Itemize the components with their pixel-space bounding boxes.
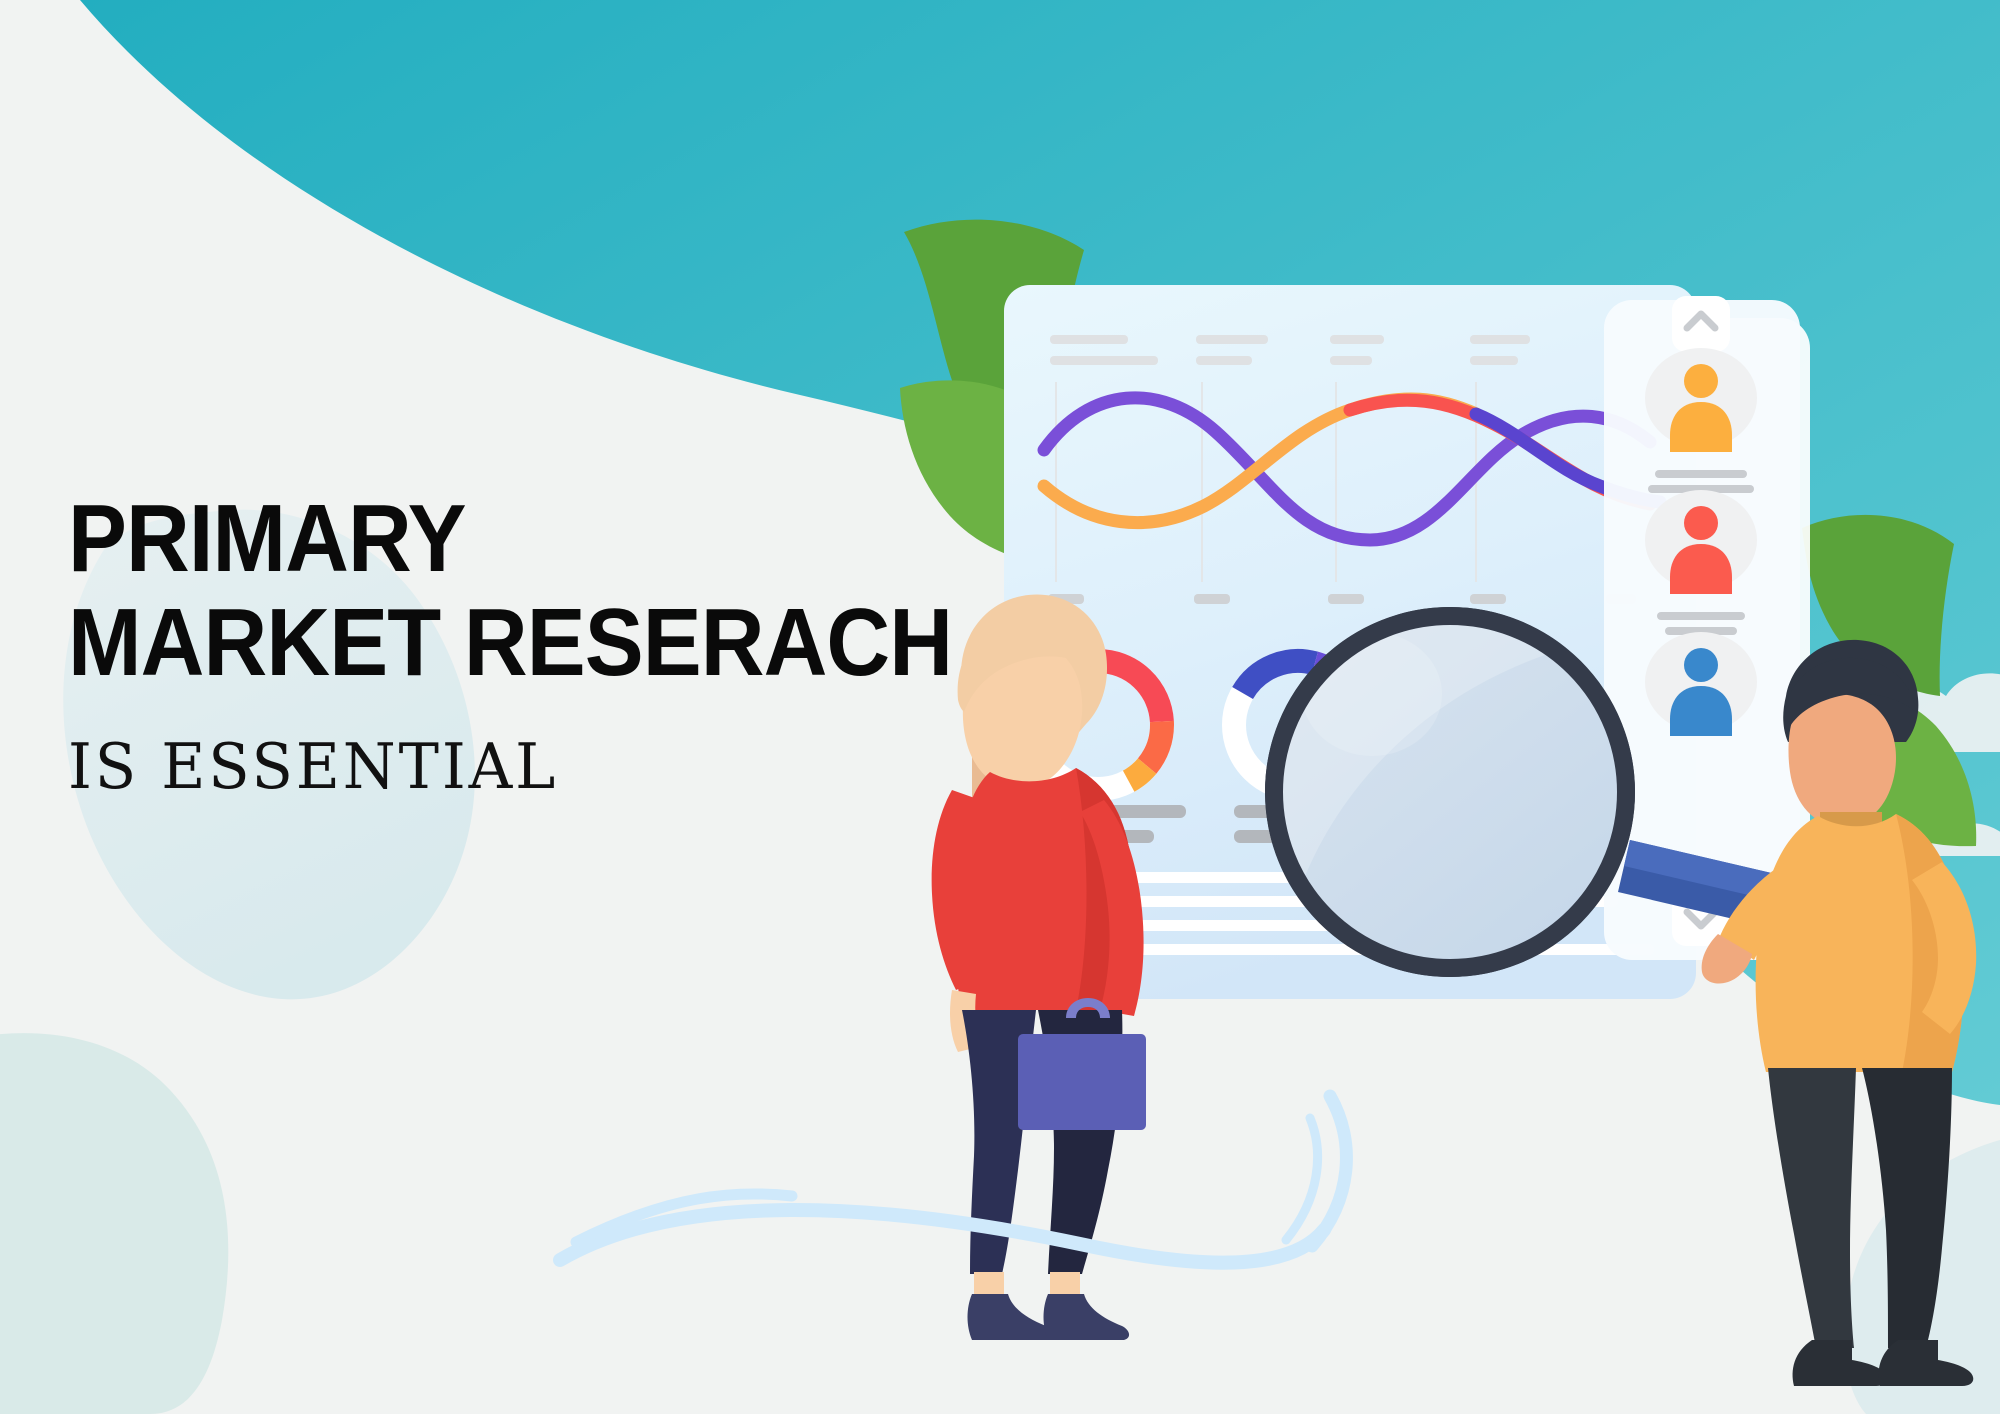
poster-text-block: PRIMARY MARKET RESERACH IS ESSENTIAL <box>68 487 1068 803</box>
shoe-left <box>1793 1340 1888 1386</box>
contact-entry-2[interactable] <box>1645 490 1757 635</box>
shoe-right <box>1044 1294 1130 1340</box>
briefcase <box>1018 1034 1146 1130</box>
page-subtitle: IS ESSENTIAL <box>68 730 1028 803</box>
contact-name-bar <box>1655 470 1747 478</box>
poster-root: PRIMARY MARKET RESERACH IS ESSENTIAL <box>0 0 2000 1414</box>
contact-name-bar <box>1657 612 1745 620</box>
shoe-right <box>1879 1340 1974 1386</box>
leg-right <box>1862 1068 1952 1348</box>
head <box>1788 694 1896 827</box>
scroll-up-button[interactable] <box>1672 296 1730 352</box>
leg-left <box>1768 1068 1856 1348</box>
contact-entry-1[interactable] <box>1645 348 1757 493</box>
page-title: PRIMARY MARKET RESERACH <box>68 487 988 694</box>
shoe-left <box>968 1294 1054 1340</box>
bottom-swoosh-lines <box>560 1096 1346 1263</box>
